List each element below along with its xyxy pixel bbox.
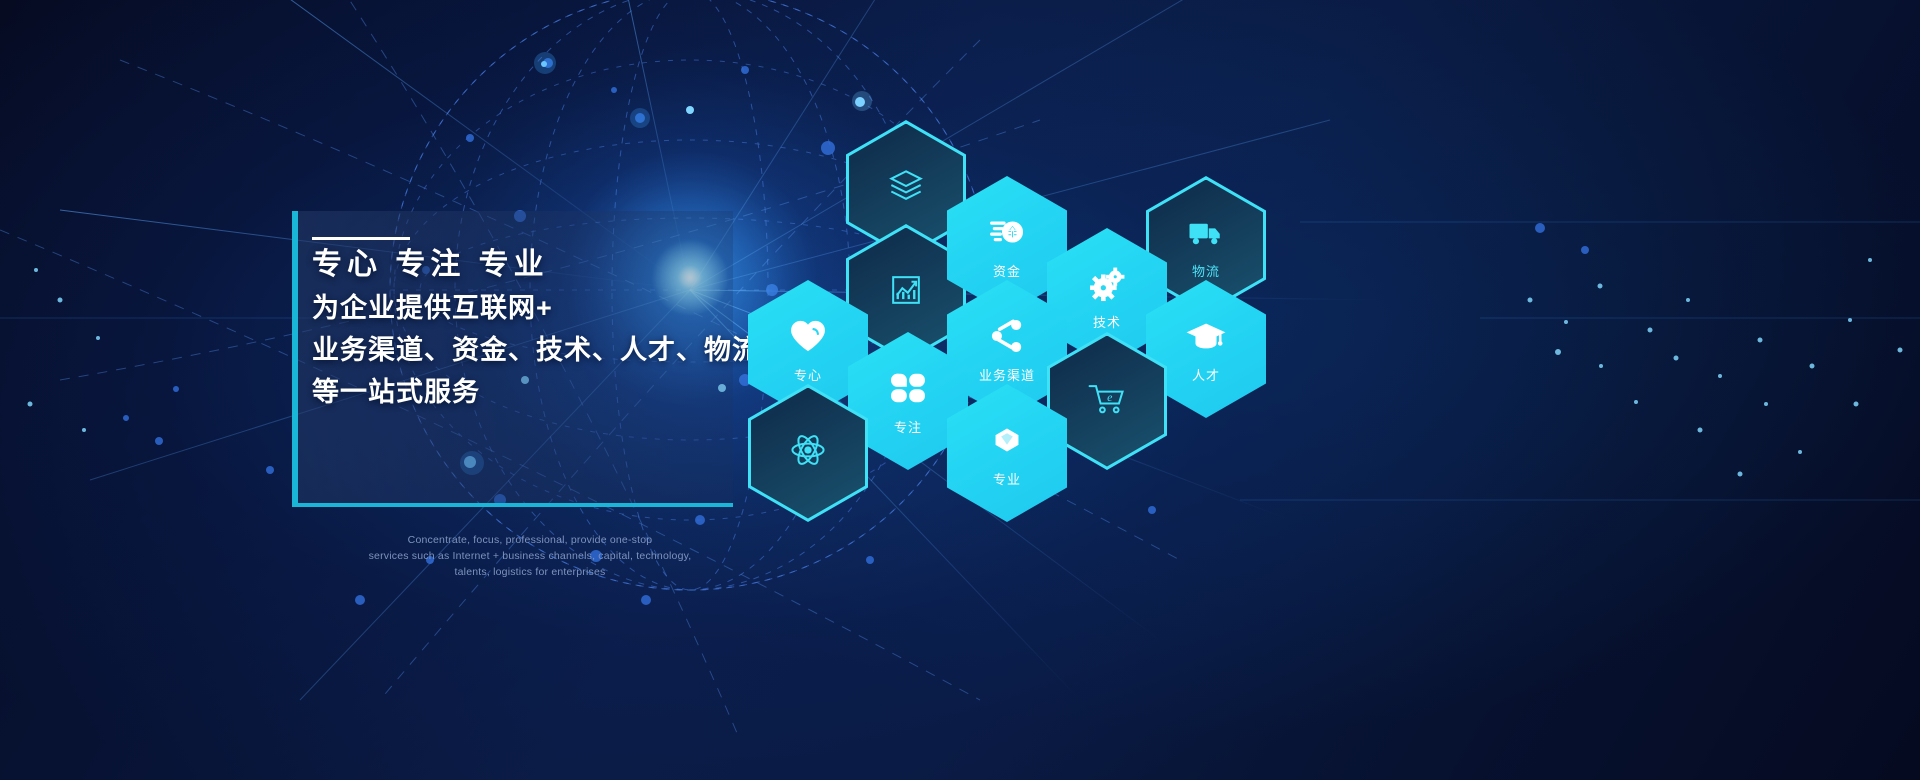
share-network-icon bbox=[985, 314, 1029, 358]
subtitle-english: Concentrate, focus, professional, provid… bbox=[300, 532, 760, 580]
hex-tech-label: 技术 bbox=[1093, 312, 1121, 331]
clover-icon bbox=[886, 366, 930, 410]
hex-talent-label: 人才 bbox=[1192, 365, 1220, 384]
headline-line-1: 专心 专注 专业 bbox=[312, 243, 742, 287]
subtitle-line-1: Concentrate, focus, professional, provid… bbox=[300, 532, 760, 548]
subtitle-line-3: talents, logistics for enterprises bbox=[300, 564, 760, 580]
graduation-cap-icon bbox=[1184, 314, 1228, 358]
layers-icon bbox=[884, 164, 928, 208]
atom-icon bbox=[786, 428, 830, 472]
hex-capital-label: 资金 bbox=[993, 261, 1021, 280]
gears-icon bbox=[1085, 263, 1129, 307]
diamond-icon bbox=[985, 418, 1029, 462]
yen-money-icon bbox=[985, 210, 1029, 254]
hex-pro-label: 专业 bbox=[993, 469, 1021, 488]
shopping-cart-e-icon: e bbox=[1085, 376, 1129, 420]
svg-text:e: e bbox=[1107, 389, 1113, 403]
hex-focus-label: 专注 bbox=[894, 417, 922, 436]
hex-heart-label: 专心 bbox=[794, 365, 822, 384]
headline-rule bbox=[312, 237, 410, 240]
chart-growth-icon bbox=[884, 268, 928, 312]
hex-channel-label: 业务渠道 bbox=[979, 365, 1035, 384]
headline-line-2: 为企业提供互联网+ bbox=[312, 287, 742, 329]
headline-text-block: 专心 专注 专业 为企业提供互联网+ 业务渠道、资金、技术、人才、物流 等一站式… bbox=[312, 243, 742, 413]
heart-icon bbox=[786, 314, 830, 358]
hero-banner: 专心 专注 专业 为企业提供互联网+ 业务渠道、资金、技术、人才、物流 等一站式… bbox=[0, 0, 1920, 780]
subtitle-line-2: services such as Internet + business cha… bbox=[300, 548, 760, 564]
headline-line-4: 等一站式服务 bbox=[312, 371, 742, 413]
hex-logistics-label: 物流 bbox=[1192, 261, 1220, 280]
headline-line-3: 业务渠道、资金、技术、人才、物流 bbox=[312, 329, 742, 371]
truck-icon bbox=[1184, 210, 1228, 254]
